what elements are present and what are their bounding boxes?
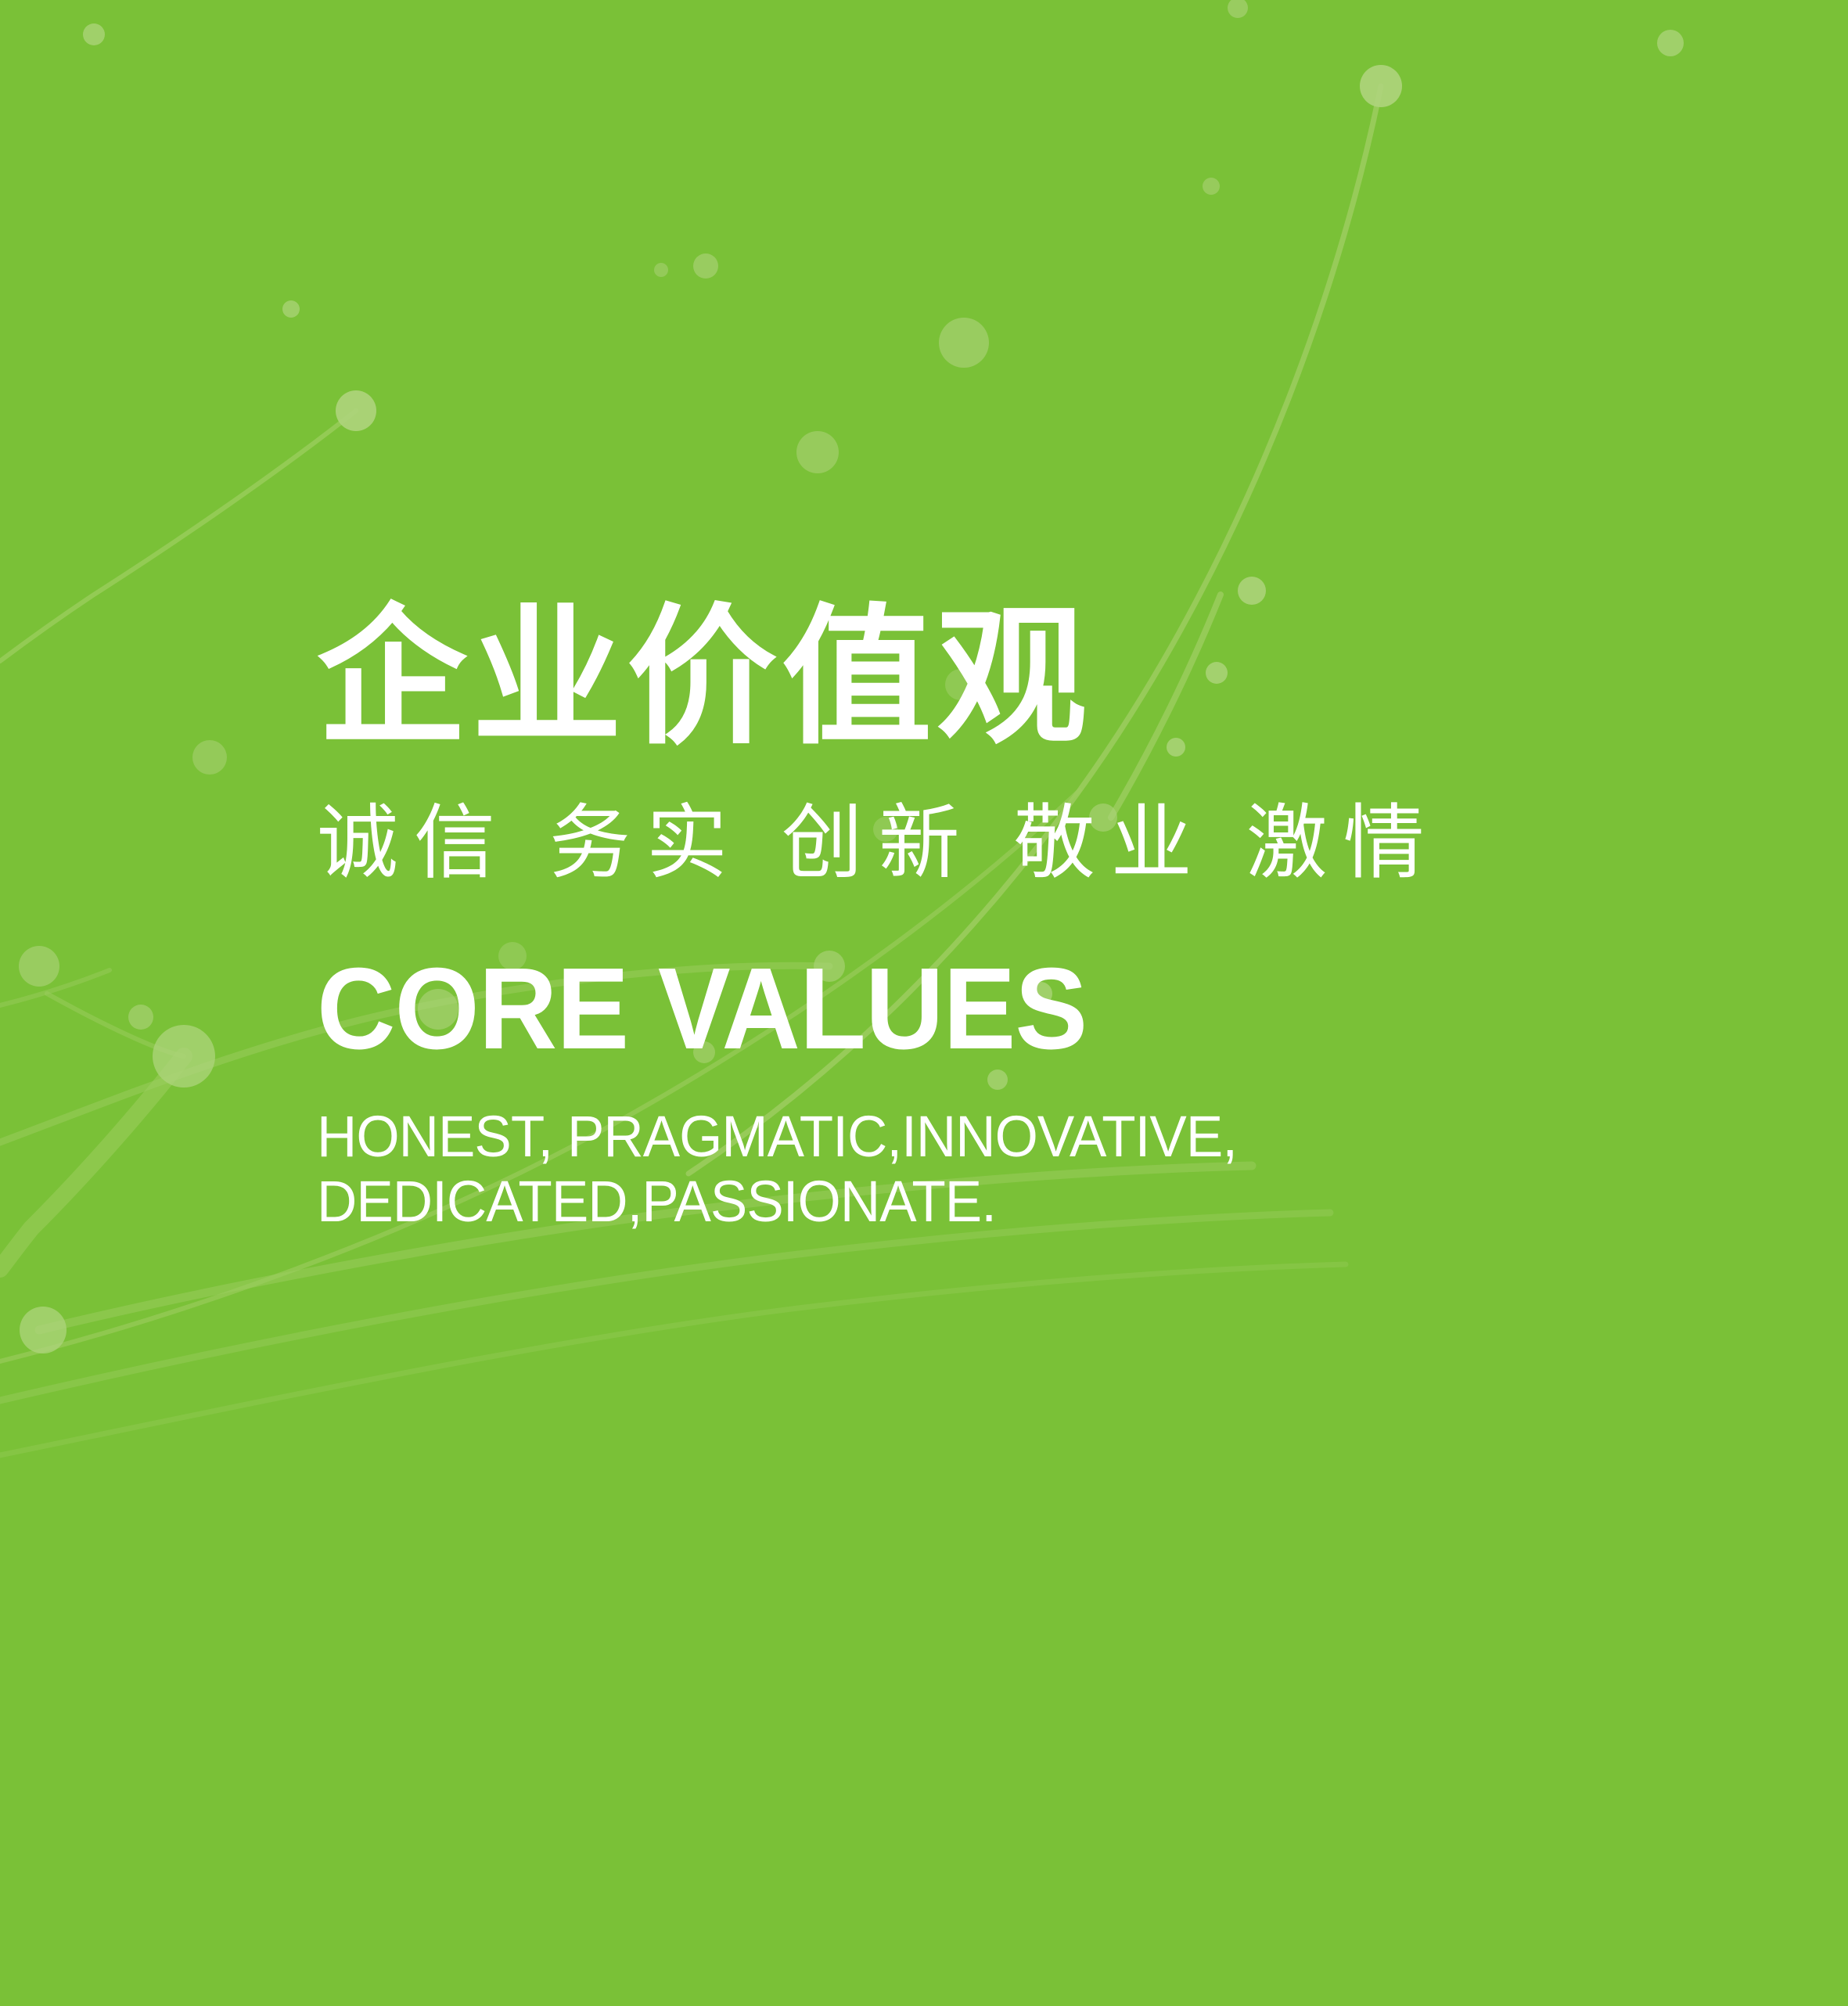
decor-curve-lower-sweep-b (0, 1213, 1330, 1400)
chinese-subtitle: 诚信 务实 创新 敬业 激情 (317, 753, 1725, 884)
decor-node (1203, 178, 1220, 195)
english-body-line-2: DEDICATED,PASSIONATE. (317, 1170, 1669, 1235)
core-values-poster: 企业价值观 诚信 务实 创新 敬业 激情 CORE VALUES HONEST,… (0, 0, 1848, 2006)
english-title: CORE VALUES (317, 884, 1641, 1067)
decor-curve-short-left-b (0, 970, 110, 1005)
decor-node (693, 253, 718, 279)
decor-node (1360, 65, 1402, 107)
decor-node (336, 390, 376, 431)
decor-node (19, 946, 59, 987)
poster-text-block: 企业价值观 诚信 务实 创新 敬业 激情 CORE VALUES HONEST,… (317, 602, 1725, 1235)
english-body-line-1: HONEST, PRAGMATIC,INNOVATIVE, (317, 1105, 1669, 1170)
decor-node (654, 263, 668, 277)
decor-node (939, 318, 989, 368)
decor-curve-upper-left (0, 411, 356, 661)
decor-curve-node-to-edge (0, 1056, 184, 1269)
decor-node (1238, 577, 1266, 605)
decor-node (1228, 0, 1248, 18)
decor-node (153, 1025, 215, 1087)
decor-curve-short-left-a (47, 994, 184, 1056)
decor-node (83, 23, 105, 45)
decor-node (128, 1005, 153, 1030)
decor-curve-lower-sweep-c (0, 1264, 1346, 1455)
english-body: HONEST, PRAGMATIC,INNOVATIVE, DEDICATED,… (317, 1067, 1669, 1235)
decor-node (1657, 30, 1684, 56)
chinese-title: 企业价值观 (317, 602, 1725, 753)
decor-node (796, 431, 839, 473)
decor-node (20, 1307, 67, 1354)
decor-node (192, 740, 227, 775)
decor-node (282, 300, 300, 318)
